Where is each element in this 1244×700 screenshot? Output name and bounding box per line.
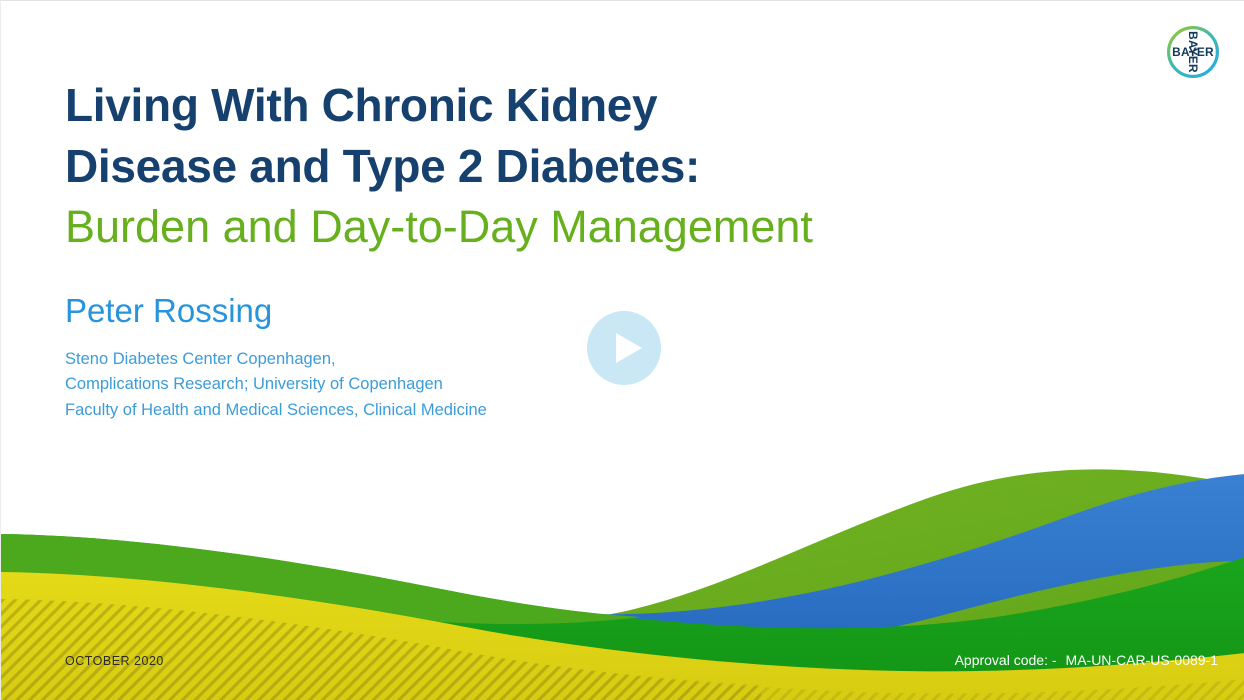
approval-label: Approval code: - (955, 652, 1057, 668)
play-icon (587, 311, 661, 385)
wave-stripe-texture-upper (1, 599, 761, 700)
title-line-2: Disease and Type 2 Diabetes: (65, 136, 1115, 197)
presentation-slide: BAYER BAYER Living With Chronic Kidney D… (0, 0, 1244, 700)
affiliation-line-2: Complications Research; University of Co… (65, 372, 487, 398)
bayer-logo: BAYER BAYER (1164, 23, 1222, 81)
author-block: Peter Rossing Steno Diabetes Center Cope… (65, 291, 487, 424)
approval-code-value: MA-UN-CAR-US-0089-1 (1066, 652, 1218, 668)
affiliation-block: Steno Diabetes Center Copenhagen, Compli… (65, 347, 487, 424)
affiliation-line-1: Steno Diabetes Center Copenhagen, (65, 347, 487, 373)
affiliation-line-3: Faculty of Health and Medical Sciences, … (65, 398, 487, 424)
wave-stripe-texture (1, 599, 1244, 700)
author-name: Peter Rossing (65, 291, 487, 331)
wave-dark-green-band (1, 534, 1244, 696)
wave-yellow (1, 572, 1244, 700)
footer-approval-code: Approval code: -MA-UN-CAR-US-0089-1 (955, 652, 1218, 668)
subtitle-line: Burden and Day-to-Day Management (65, 197, 1115, 258)
wave-dark-green (1, 534, 1244, 700)
wave-mid-green (1, 534, 641, 624)
wave-blue (1, 474, 1244, 666)
bayer-logo-vertical-text: BAYER (1186, 31, 1200, 73)
play-button[interactable] (587, 311, 661, 385)
footer-date: OCTOBER 2020 (65, 654, 164, 668)
title-block: Living With Chronic Kidney Disease and T… (65, 75, 1115, 258)
title-line-1: Living With Chronic Kidney (65, 75, 1115, 136)
